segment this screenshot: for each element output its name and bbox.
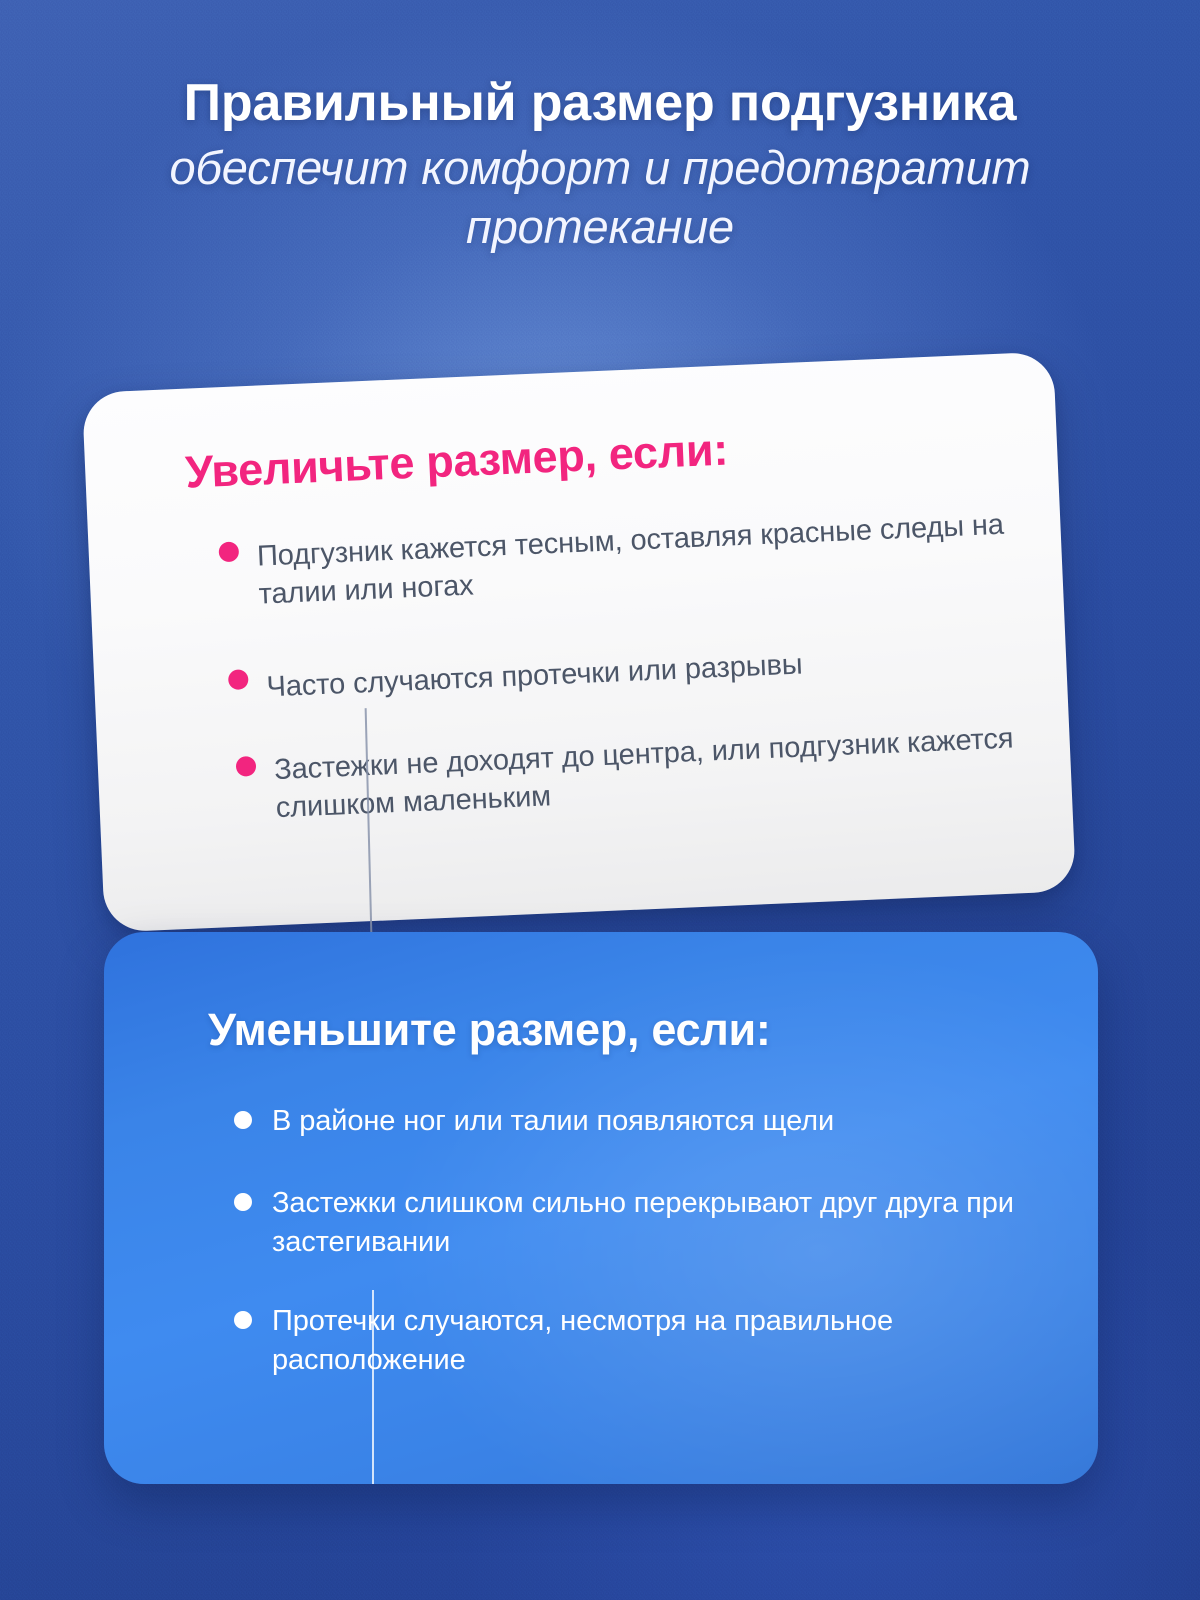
bullet-dot-icon bbox=[218, 541, 239, 562]
page-title: Правильный размер подгузника обеспечит к… bbox=[0, 74, 1200, 257]
list-item-label: Часто случаются протечки или разрывы bbox=[266, 645, 803, 706]
list-item-label: Застежки не доходят до центра, или подгу… bbox=[273, 719, 1038, 828]
card-decrease-size: Уменьшите размер, если: В районе ног или… bbox=[104, 932, 1098, 1484]
list-item-label: Застежки слишком сильно перекрывают друг… bbox=[272, 1184, 1034, 1263]
list-item-label: Протечки случаются, несмотря на правильн… bbox=[272, 1302, 1034, 1381]
card-increase-heading: Увеличьте размер, если: bbox=[184, 423, 729, 498]
list-item-label: В районе ног или талии появляются щели bbox=[272, 1102, 834, 1141]
list-item: Застежки слишком сильно перекрывают друг… bbox=[234, 1184, 1034, 1263]
bullet-connector-line bbox=[372, 1290, 374, 1484]
list-item: В районе ног или талии появляются щели bbox=[234, 1102, 1034, 1141]
list-item: Застежки не доходят до центра, или подгу… bbox=[236, 723, 1038, 830]
infographic-poster: Правильный размер подгузника обеспечит к… bbox=[0, 0, 1200, 1600]
title-subtitle-line: обеспечит комфорт и предотвратит протека… bbox=[70, 139, 1130, 257]
card-decrease-heading: Уменьшите размер, если: bbox=[208, 1004, 771, 1056]
bullet-dot-icon bbox=[236, 756, 257, 777]
card-decrease-content: Уменьшите размер, если: В районе ног или… bbox=[104, 932, 1098, 1484]
bullet-dot-icon bbox=[234, 1311, 252, 1329]
title-main-line: Правильный размер подгузника bbox=[70, 74, 1130, 133]
list-item: Подгузник кажется тесным, оставляя красн… bbox=[218, 509, 1010, 616]
card-increase-content: Увеличьте размер, если: Подгузник кажетс… bbox=[82, 351, 1076, 932]
list-item: Протечки случаются, несмотря на правильн… bbox=[234, 1302, 1034, 1381]
bullet-dot-icon bbox=[234, 1193, 252, 1211]
card-increase-size: Увеличьте размер, если: Подгузник кажетс… bbox=[82, 351, 1076, 932]
list-item-label: Подгузник кажется тесным, оставляя красн… bbox=[256, 506, 1011, 615]
card-increase-list: Подгузник кажется тесным, оставляя красн… bbox=[218, 508, 1027, 543]
bullet-dot-icon bbox=[234, 1111, 252, 1129]
list-item: Часто случаются протечки или разрывы bbox=[228, 636, 1019, 708]
bullet-connector-line bbox=[365, 708, 373, 940]
bullet-dot-icon bbox=[228, 669, 249, 690]
